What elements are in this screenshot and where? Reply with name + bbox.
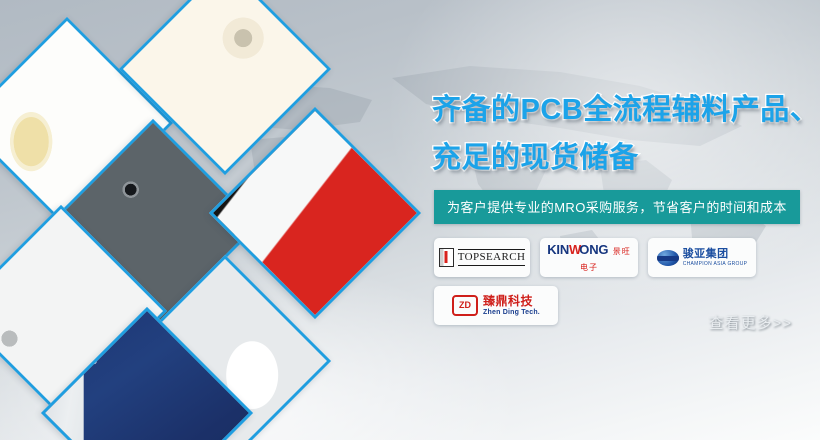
promo-banner: JIE 齐备的PCB全流程辅料产品、 充足的现货储备 为客户提供专业的MRO采购… bbox=[0, 0, 820, 440]
topsearch-mark-icon bbox=[439, 248, 454, 267]
headline: 齐备的PCB全流程辅料产品、 充足的现货储备 bbox=[432, 86, 820, 182]
zhen-ding-monogram-icon: ZD bbox=[452, 295, 478, 316]
zhen-ding-english-name: Zhen Ding Tech. bbox=[483, 309, 540, 316]
brand-logo-topsearch[interactable]: TOPSEARCH bbox=[434, 238, 530, 277]
topsearch-wordmark: TOPSEARCH bbox=[458, 249, 526, 266]
view-more-link[interactable]: 查看更多>> bbox=[708, 312, 792, 333]
globe-icon bbox=[657, 250, 679, 266]
brand-logo-zhen-ding[interactable]: ZD 臻鼎科技 Zhen Ding Tech. bbox=[434, 286, 558, 325]
product-collage: JIE bbox=[0, 0, 430, 440]
kinwong-wordmark: KINWONG bbox=[547, 242, 608, 257]
champion-asia-english-name: CHAMPION ASIA GROUP bbox=[683, 262, 748, 267]
subtitle-bar: 为客户提供专业的MRO采购服务，节省客户的时间和成本 bbox=[434, 190, 800, 224]
brand-logo-kinwong[interactable]: KINWONG 景旺电子 bbox=[540, 238, 638, 277]
brand-logo-row-1: TOPSEARCH KINWONG 景旺电子 骏亚集团 CHAMPION ASI bbox=[434, 238, 820, 277]
banner-content: 齐备的PCB全流程辅料产品、 充足的现货储备 为客户提供专业的MRO采购服务，节… bbox=[424, 0, 820, 440]
brand-logo-champion-asia[interactable]: 骏亚集团 CHAMPION ASIA GROUP bbox=[648, 238, 756, 277]
zhen-ding-chinese-name: 臻鼎科技 bbox=[483, 295, 540, 307]
champion-asia-chinese-name: 骏亚集团 bbox=[683, 249, 748, 260]
